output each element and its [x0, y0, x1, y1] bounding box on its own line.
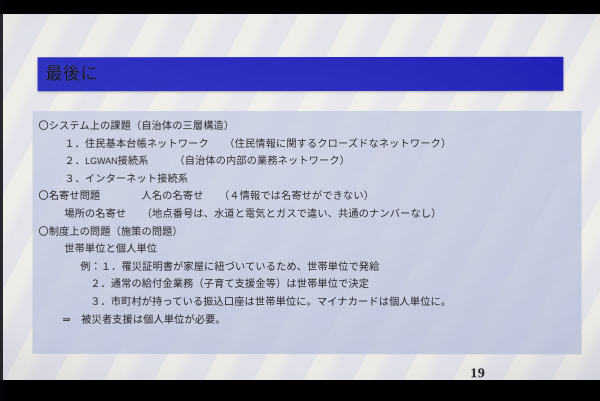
- slide-body-line: ３．インターネット接続系: [38, 171, 590, 189]
- slide-body-line: 世帯単位と個人単位: [38, 241, 590, 259]
- slide-body-line: 〇名寄せ問題 人名の名寄せ （４情報では名寄せができない）: [38, 188, 590, 206]
- slide-page-number: 19: [470, 366, 485, 380]
- slide-body-line: ２．通常の給付金業務（子育て支援金等）は世帯単位で決定: [38, 276, 590, 294]
- slide-body-line: 〇システム上の課題（自治体の三層構造）: [39, 118, 591, 136]
- lgwan-label: LGWAN: [85, 156, 118, 166]
- slide-title-bar: [38, 57, 564, 91]
- presentation-slide: 最後に 〇システム上の課題（自治体の三層構造）１．住民基本台帳ネットワーク （住…: [0, 14, 600, 380]
- slide-body-line: ⇒ 被災者支援は個人単位が必要。: [38, 311, 590, 329]
- letterbox-left: [0, 0, 3, 401]
- slide-title: 最後に: [46, 59, 98, 89]
- slide-body-line: 例：１．罹災証明書が家屋に紐づいているため、世帯単位で発給: [38, 259, 590, 277]
- projection-screen: 最後に 〇システム上の課題（自治体の三層構造）１．住民基本台帳ネットワーク （住…: [0, 14, 600, 380]
- slide-body-line: １．住民基本台帳ネットワーク （住民情報に関するクローズドなネットワーク）: [39, 135, 591, 153]
- slide-body-text: 〇システム上の課題（自治体の三層構造）１．住民基本台帳ネットワーク （住民情報に…: [38, 118, 590, 330]
- slide-body-line: 場所の名寄せ （地点番号は、水道と電気とガスで違い、共通のナンバーなし）: [38, 206, 590, 224]
- slide-body-line: 〇制度上の問題（施策の問題）: [38, 224, 590, 242]
- letterbox-top: [0, 0, 600, 14]
- slide-body-line: ３．市町村が持っている振込口座は世帯単位に。マイナカードは個人単位に。: [38, 294, 590, 312]
- slide-body-line: ２．LGWAN接続系 （自治体の内部の業務ネットワーク）: [39, 153, 591, 171]
- letterbox-bottom: [0, 380, 600, 401]
